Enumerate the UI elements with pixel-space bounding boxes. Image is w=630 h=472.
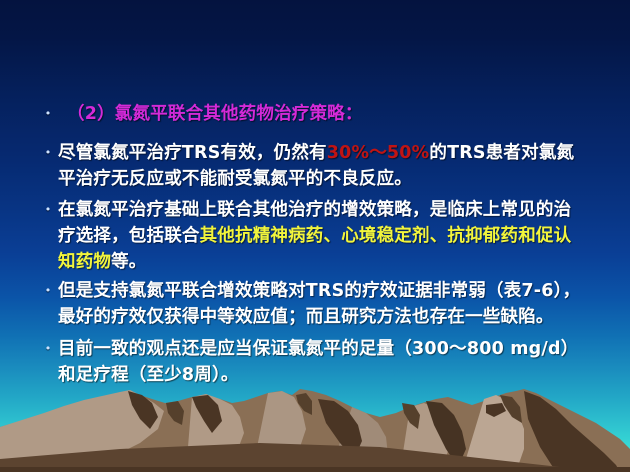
bullet-dot-icon: • [38, 278, 58, 304]
bullet-item-4: • 但是支持氯氮平联合增效策略对TRS的疗效证据非常弱（表7-6），最好的疗效仅… [38, 278, 618, 330]
bullet-dot-icon: • [38, 197, 58, 223]
bullet-dot-icon: • [38, 140, 58, 166]
bullet-text-3: 在氯氮平治疗基础上联合其他治疗的增效策略，是临床上常见的治疗选择，包括联合其他抗… [58, 197, 618, 275]
bullet-3-segment-2: 等。 [111, 252, 146, 272]
mountain-range-graphic [0, 377, 630, 472]
bullet-dot-icon: • [38, 336, 58, 362]
bullet-2-segment-1-percent-range: 30%～50% [327, 143, 430, 163]
bullet-5-segment-0: 目前一致的观点还是应当保证氯氮平的足量（300～800 mg/d）和足疗程（至少… [58, 339, 578, 385]
bullet-item-1: • （2）氯氮平联合其他药物治疗策略： [38, 101, 618, 127]
bullet-1-segment-0: （2）氯氮平联合其他药物治疗策略： [67, 104, 363, 124]
bullet-text-2: 尽管氯氮平治疗TRS有效，仍然有30%～50%的TRS患者对氯氮平治疗无反应或不… [58, 140, 618, 192]
bullet-dot-icon: • [38, 101, 58, 127]
bullet-item-3: • 在氯氮平治疗基础上联合其他治疗的增效策略，是临床上常见的治疗选择，包括联合其… [38, 197, 618, 275]
mountain-ground-strip [0, 467, 630, 472]
bullet-item-5: • 目前一致的观点还是应当保证氯氮平的足量（300～800 mg/d）和足疗程（… [38, 336, 618, 388]
presentation-slide: • （2）氯氮平联合其他药物治疗策略： • 尽管氯氮平治疗TRS有效，仍然有30… [0, 0, 630, 472]
bullet-item-2: • 尽管氯氮平治疗TRS有效，仍然有30%～50%的TRS患者对氯氮平治疗无反应… [38, 140, 618, 192]
bullet-text-5: 目前一致的观点还是应当保证氯氮平的足量（300～800 mg/d）和足疗程（至少… [58, 336, 618, 388]
bullet-4-segment-0: 但是支持氯氮平联合增效策略对TRS的疗效证据非常弱（表7-6），最好的疗效仅获得… [58, 281, 580, 327]
bullet-text-4: 但是支持氯氮平联合增效策略对TRS的疗效证据非常弱（表7-6），最好的疗效仅获得… [58, 278, 618, 330]
bullet-2-segment-0: 尽管氯氮平治疗TRS有效，仍然有 [58, 143, 327, 163]
bullet-text-1: （2）氯氮平联合其他药物治疗策略： [58, 101, 618, 127]
